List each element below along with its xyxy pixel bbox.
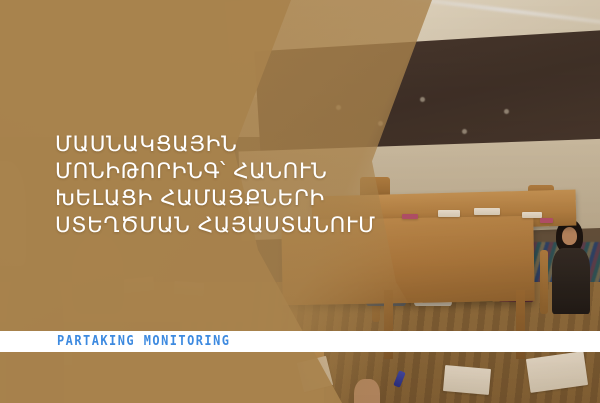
banner-label: PARTAKING MONITORING	[57, 333, 230, 350]
headline-line-3: ԽԵԼԱՑԻ ՀԱՄԱՅՔՆԵՐԻ	[55, 185, 355, 212]
headline-line-2: ՄՈՆԻԹՈՐԻՆԳ՝ ՀԱՆՈՒՆ	[55, 158, 355, 185]
headline: ՄԱՍՆԱԿՑԱՅԻՆ ՄՈՆԻԹՈՐԻՆԳ՝ ՀԱՆՈՒՆ ԽԵԼԱՑԻ ՀԱ…	[55, 131, 355, 239]
headline-line-4: ՍՏԵՂԾՄԱՆ ՀԱՅԱՍՏԱՆՈՒՄ	[55, 212, 355, 239]
promo-poster: ՄԱՍՆԱԿՑԱՅԻՆ ՄՈՆԻԹՈՐԻՆԳ՝ ՀԱՆՈՒՆ ԽԵԼԱՑԻ ՀԱ…	[0, 0, 600, 403]
headline-line-1: ՄԱՍՆԱԿՑԱՅԻՆ	[55, 131, 355, 158]
